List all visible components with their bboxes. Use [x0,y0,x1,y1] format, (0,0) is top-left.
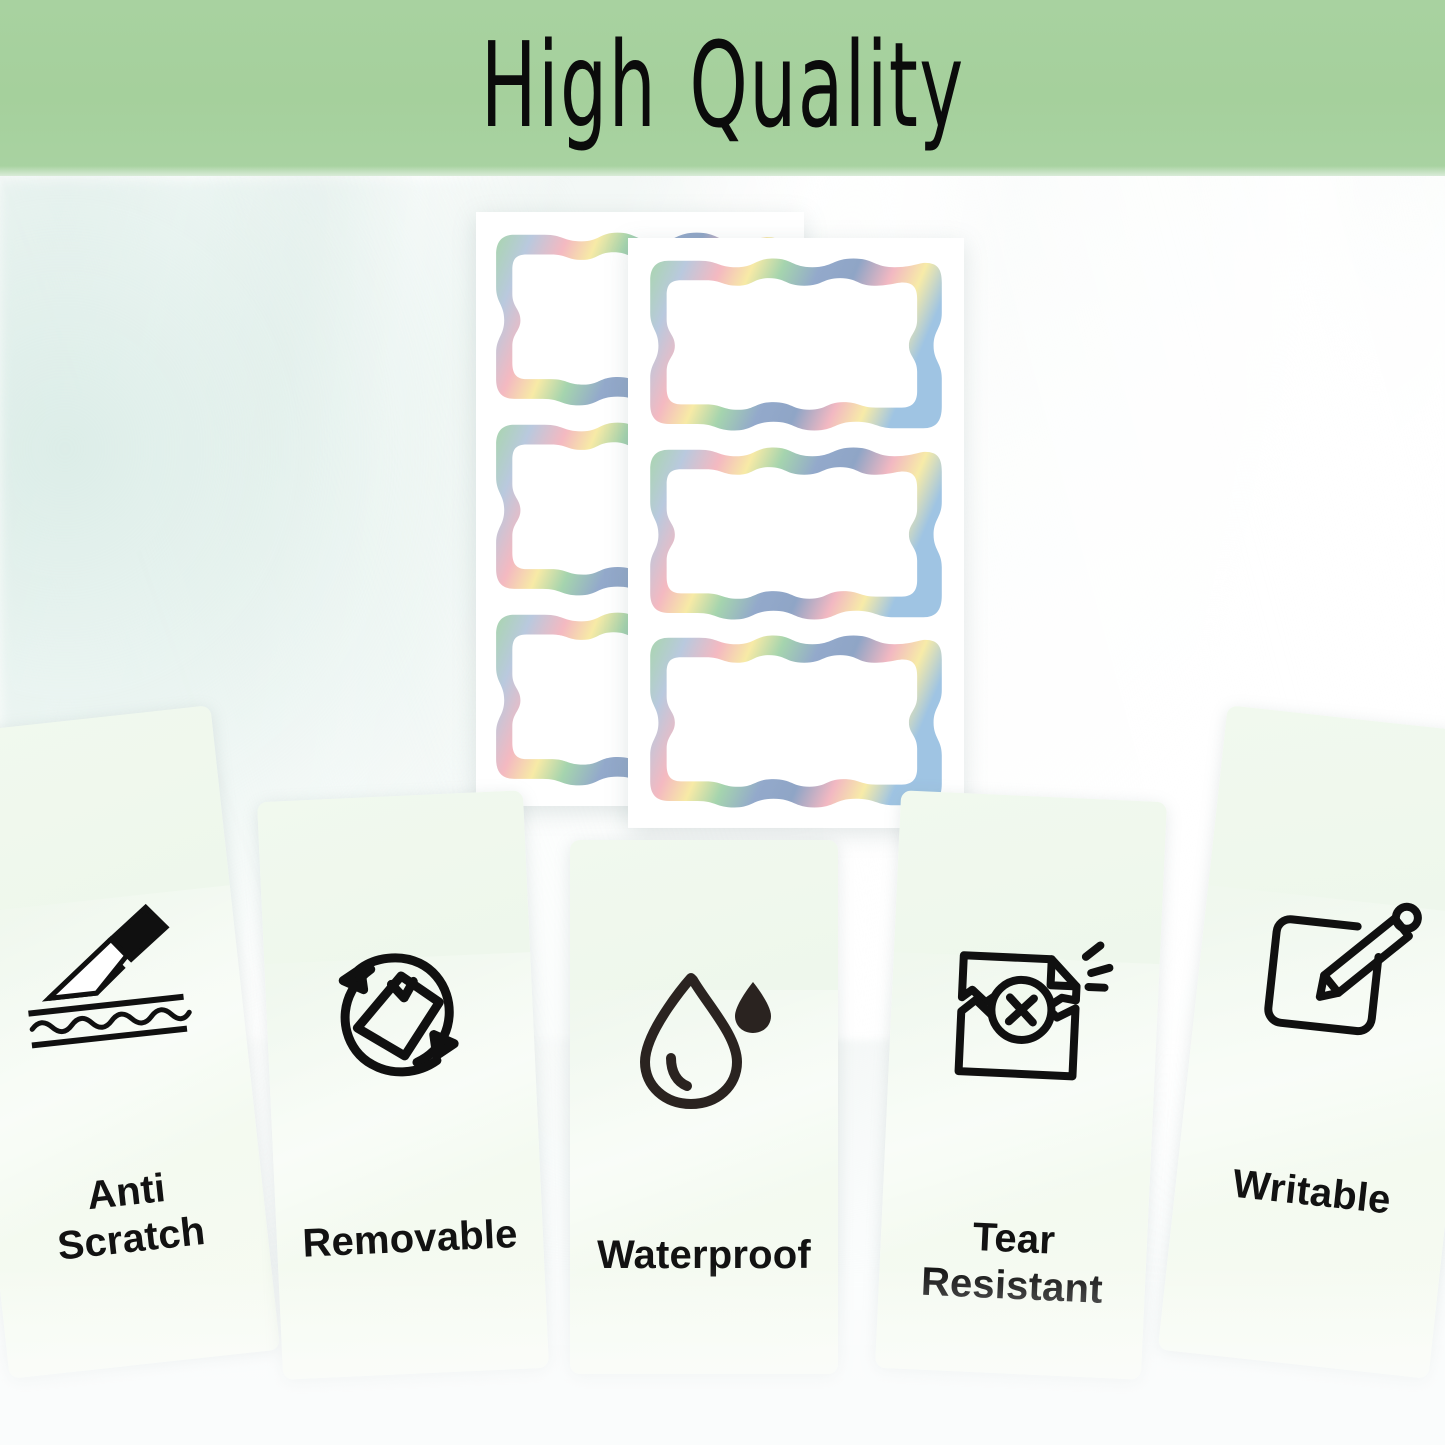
feature-card-waterproof[interactable]: Waterproof [570,840,838,1374]
feature-card-anti-scratch[interactable]: Anti Scratch [0,705,280,1379]
feature-label-line1: Removable [282,1210,538,1269]
pencil-square-icon [1192,874,1445,1067]
feature-label-line1: Waterproof [576,1232,832,1279]
feature-card-writable[interactable]: Writable [1158,705,1445,1379]
feature-label-line1: Writable [1180,1155,1444,1230]
feature-label-tear-resistant: Tear Resistant [878,1210,1148,1316]
feature-label-writable: Writable [1174,1155,1445,1231]
holographic-label[interactable] [642,252,950,437]
feature-label-removable: Removable [276,1210,544,1269]
feature-cards-group: Anti Scratch [0,700,1445,1445]
recycle-label-icon [263,930,536,1102]
feature-label-anti-scratch: Anti Scratch [0,1155,269,1278]
feature-card-removable[interactable]: Removable [257,790,549,1379]
knife-scratch-icon [0,874,246,1062]
feature-label-waterproof: Waterproof [570,1232,838,1279]
infographic-stage: HighQuality [0,0,1445,1445]
feature-card-tear-resistant[interactable]: Tear Resistant [875,790,1167,1379]
feature-label-line2: Resistant [884,1257,1140,1316]
holographic-label[interactable] [642,441,950,626]
water-drop-icon [570,958,838,1123]
torn-paper-x-icon [888,930,1161,1102]
